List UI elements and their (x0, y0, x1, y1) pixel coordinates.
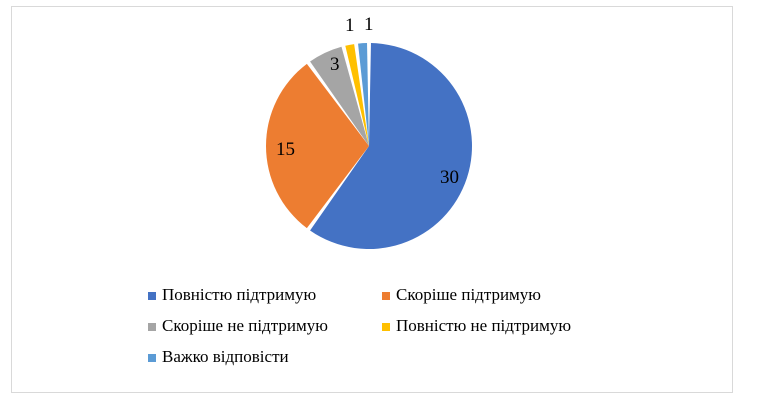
data-label-vazhko-vidpovisty: 1 (364, 15, 374, 34)
legend-item[interactable]: Повністю не підтримую (382, 317, 571, 335)
legend-item[interactable]: Скоріше підтримую (382, 286, 541, 304)
legend-item-label: Скоріше підтримую (396, 286, 541, 304)
legend-item-label: Повністю підтримую (162, 286, 316, 304)
pie-slice-group (266, 43, 472, 249)
legend-row: Скоріше не підтримуюПовністю не підтриму… (148, 317, 618, 337)
data-label-povnistyu-ne-pidtrymuyu: 1 (345, 16, 355, 35)
legend-color-swatch-icon (148, 323, 156, 331)
legend-row: Важко відповісти (148, 348, 618, 368)
chart-legend: Повністю підтримуюСкоріше підтримуюСкорі… (148, 286, 618, 379)
legend-item[interactable]: Повністю підтримую (148, 286, 382, 304)
legend-color-swatch-icon (148, 354, 156, 362)
data-label-skorishe-pidtrymuyu: 15 (276, 140, 295, 159)
legend-item[interactable]: Важко відповісти (148, 348, 382, 366)
legend-row: Повністю підтримуюСкоріше підтримую (148, 286, 618, 306)
data-label-povnistyu-pidtrymuyu: 30 (440, 168, 459, 187)
legend-item[interactable]: Скоріше не підтримую (148, 317, 382, 335)
legend-color-swatch-icon (382, 323, 390, 331)
legend-color-swatch-icon (148, 292, 156, 300)
legend-item-label: Повністю не підтримую (396, 317, 571, 335)
legend-color-swatch-icon (382, 292, 390, 300)
legend-item-label: Важко відповісти (162, 348, 289, 366)
pie-chart-plot-area: 30 15 3 1 1 Повністю підтримуюСкоріше пі… (0, 0, 758, 401)
legend-item-label: Скоріше не підтримую (162, 317, 328, 335)
data-label-skorishe-ne-pidtrymuyu: 3 (330, 55, 340, 74)
